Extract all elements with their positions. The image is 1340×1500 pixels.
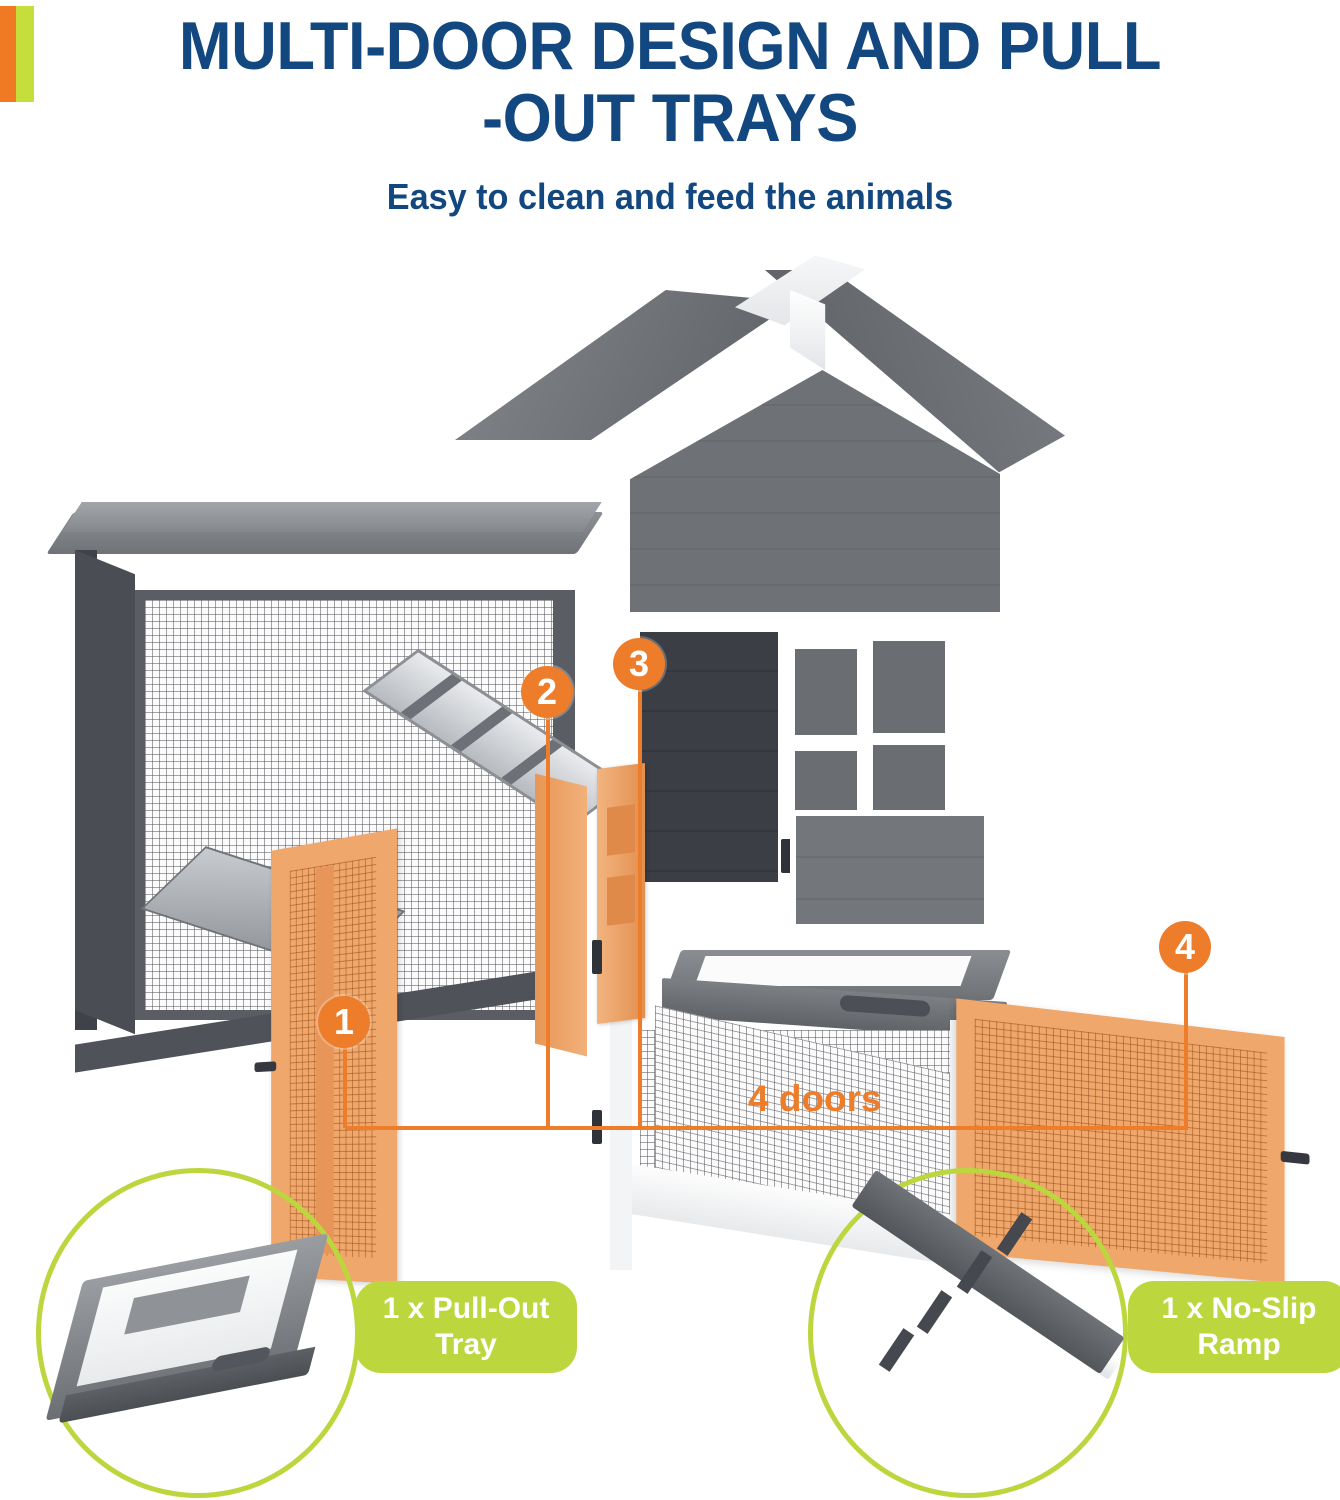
door-2-ramp-access[interactable] xyxy=(535,774,587,1057)
house-lower-panel xyxy=(790,810,990,930)
feature-2-label-pill: 1 x No-Slip Ramp xyxy=(1128,1281,1340,1373)
door-3-panel-top xyxy=(607,804,635,855)
product-illustration xyxy=(0,250,1340,1150)
page-title-line-2: -OUT TRAYS xyxy=(47,82,1293,154)
page-title-line-1: MULTI-DOOR DESIGN AND PULL xyxy=(47,10,1293,82)
door-3-hinge-bottom-icon xyxy=(592,1110,602,1144)
feature-1-label-line-1: 1 x Pull-Out xyxy=(383,1291,550,1327)
door-4-handle-icon[interactable] xyxy=(1281,1151,1310,1165)
page-subtitle: Easy to clean and feed the animals xyxy=(34,176,1307,218)
door-3-upper-house[interactable] xyxy=(597,763,645,1024)
product-pull-out-tray-inner xyxy=(695,956,972,986)
door-1-stile xyxy=(316,866,334,1254)
feature-1-label-line-2: Tray xyxy=(383,1327,550,1363)
header-block: MULTI-DOOR DESIGN AND PULL -OUT TRAYS Ea… xyxy=(0,10,1340,218)
feature-2-label-line-1: 1 x No-Slip xyxy=(1161,1291,1316,1327)
door-1-handle-icon[interactable] xyxy=(255,1061,277,1072)
door-3-hinge-top-icon xyxy=(592,940,602,974)
door-3-panel-bottom xyxy=(607,874,635,925)
feature-2-label-line-2: Ramp xyxy=(1161,1327,1316,1363)
run-roof-top xyxy=(62,502,601,532)
feature-1-label-pill: 1 x Pull-Out Tray xyxy=(355,1281,577,1373)
infographic-page: MULTI-DOOR DESIGN AND PULL -OUT TRAYS Ea… xyxy=(0,0,1340,1500)
run-side-mesh-panel xyxy=(75,550,135,1034)
